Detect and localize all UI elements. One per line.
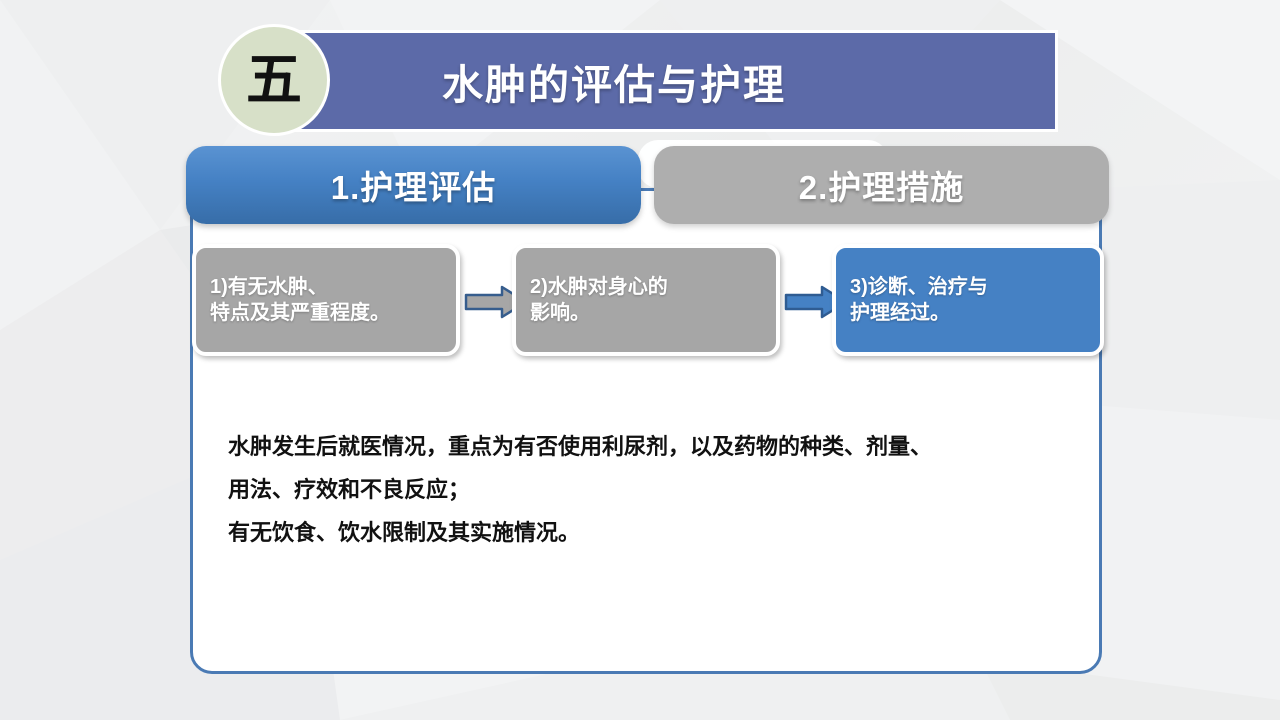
step-box-3-label: 3)诊断、治疗与 护理经过。	[836, 274, 988, 327]
body-line-3: 有无饮食、饮水限制及其实施情况。	[228, 512, 1084, 555]
step-box-1-label: 1)有无水肿、 特点及其严重程度。	[196, 274, 390, 327]
body-line-1: 水肿发生后就医情况，重点为有否使用利尿剂，以及药物的种类、剂量、	[228, 426, 1084, 469]
tab-bar: 1.护理评估 2.护理措施	[186, 146, 1116, 228]
step-box-2[interactable]: 2)水肿对身心的 影响。	[512, 244, 780, 356]
tab-nursing-measures[interactable]: 2.护理措施	[654, 146, 1109, 224]
page-title: 水肿的评估与护理	[442, 51, 786, 111]
section-number-badge: 五	[218, 24, 330, 136]
step-box-1[interactable]: 1)有无水肿、 特点及其严重程度。	[192, 244, 460, 356]
body-paragraph: 水肿发生后就医情况，重点为有否使用利尿剂，以及药物的种类、剂量、 用法、疗效和不…	[228, 426, 1084, 555]
step-box-3[interactable]: 3)诊断、治疗与 护理经过。	[832, 244, 1104, 356]
step-box-2-label: 2)水肿对身心的 影响。	[516, 274, 668, 327]
tab-nursing-assessment[interactable]: 1.护理评估	[186, 146, 641, 224]
body-line-2: 用法、疗效和不良反应；	[228, 469, 1084, 512]
slide-title-block: 水肿的评估与护理 五	[218, 24, 858, 138]
step-flow: 1)有无水肿、 特点及其严重程度。 2)水肿对身心的 影响。 3)诊断、治疗与 …	[192, 240, 1098, 366]
title-banner-content: 水肿的评估与护理	[292, 30, 1058, 132]
